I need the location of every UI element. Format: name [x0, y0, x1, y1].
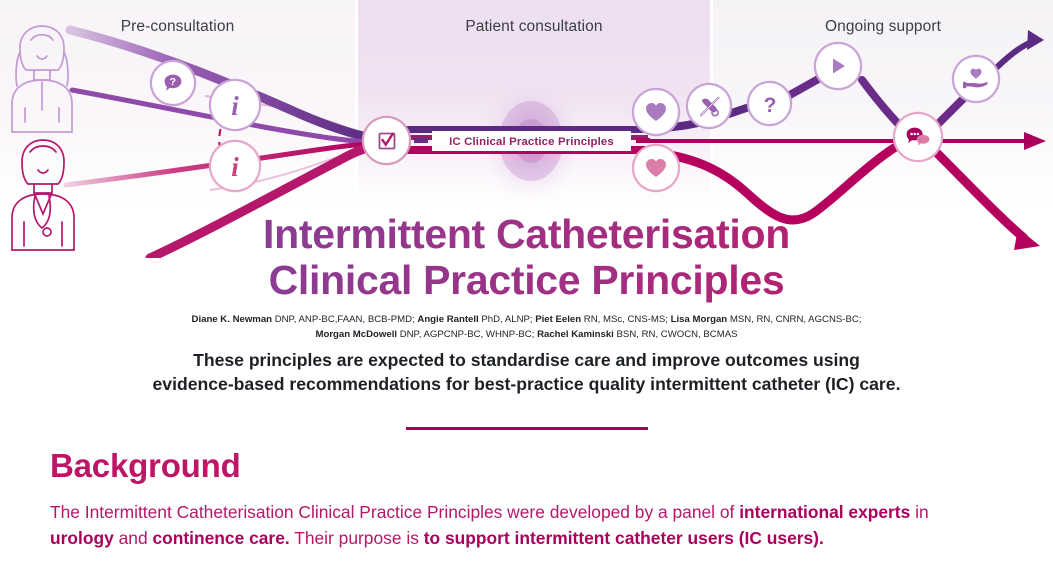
- lede-line-2: evidence-based recommendations for best-…: [30, 373, 1023, 397]
- info-icon-upper: i: [211, 81, 259, 129]
- svg-text:i: i: [231, 91, 239, 120]
- author-list: Diane K. Newman DNP, ANP-BC,FAAN, BCB-PM…: [0, 313, 1053, 343]
- chat-bubbles-icon: [895, 114, 941, 160]
- hand-heart-icon: [954, 57, 998, 101]
- check-clipboard-icon: [364, 118, 409, 163]
- lede-paragraph: These principles are expected to standar…: [0, 349, 1053, 397]
- no-wrench-icon: [688, 85, 730, 127]
- background-section: Background The Intermittent Catheterisat…: [50, 448, 1010, 551]
- ic-user-figure: [12, 26, 72, 132]
- heart-icon-lower: [634, 146, 678, 190]
- page-title: Intermittent Catheterisation Clinical Pr…: [0, 212, 1053, 303]
- svg-text:?: ?: [170, 76, 176, 88]
- title-line-2: Clinical Practice Principles: [0, 258, 1053, 304]
- svg-text:?: ?: [763, 94, 776, 117]
- play-icon: [816, 44, 860, 88]
- section-divider: [406, 427, 648, 430]
- poster-page: Pre-consultation Patient consultation On…: [0, 0, 1053, 588]
- svg-text:i: i: [231, 152, 239, 181]
- info-icon-lower: i: [211, 142, 259, 190]
- lede-line-1: These principles are expected to standar…: [30, 349, 1023, 373]
- author-line-2: Morgan McDowell DNP, AGPCNP-BC, WHNP-BC;…: [140, 328, 913, 343]
- background-body: The Intermittent Catheterisation Clinica…: [50, 500, 965, 551]
- question-mark-icon: ?: [749, 83, 790, 124]
- heart-icon-upper: [634, 90, 678, 134]
- ic-principles-label: IC Clinical Practice Principles: [432, 132, 631, 151]
- author-line-1: Diane K. Newman DNP, ANP-BC,FAAN, BCB-PM…: [140, 313, 913, 328]
- question-bubble-icon: ?: [152, 62, 194, 104]
- title-line-1: Intermittent Catheterisation: [0, 212, 1053, 258]
- background-heading: Background: [50, 448, 1010, 484]
